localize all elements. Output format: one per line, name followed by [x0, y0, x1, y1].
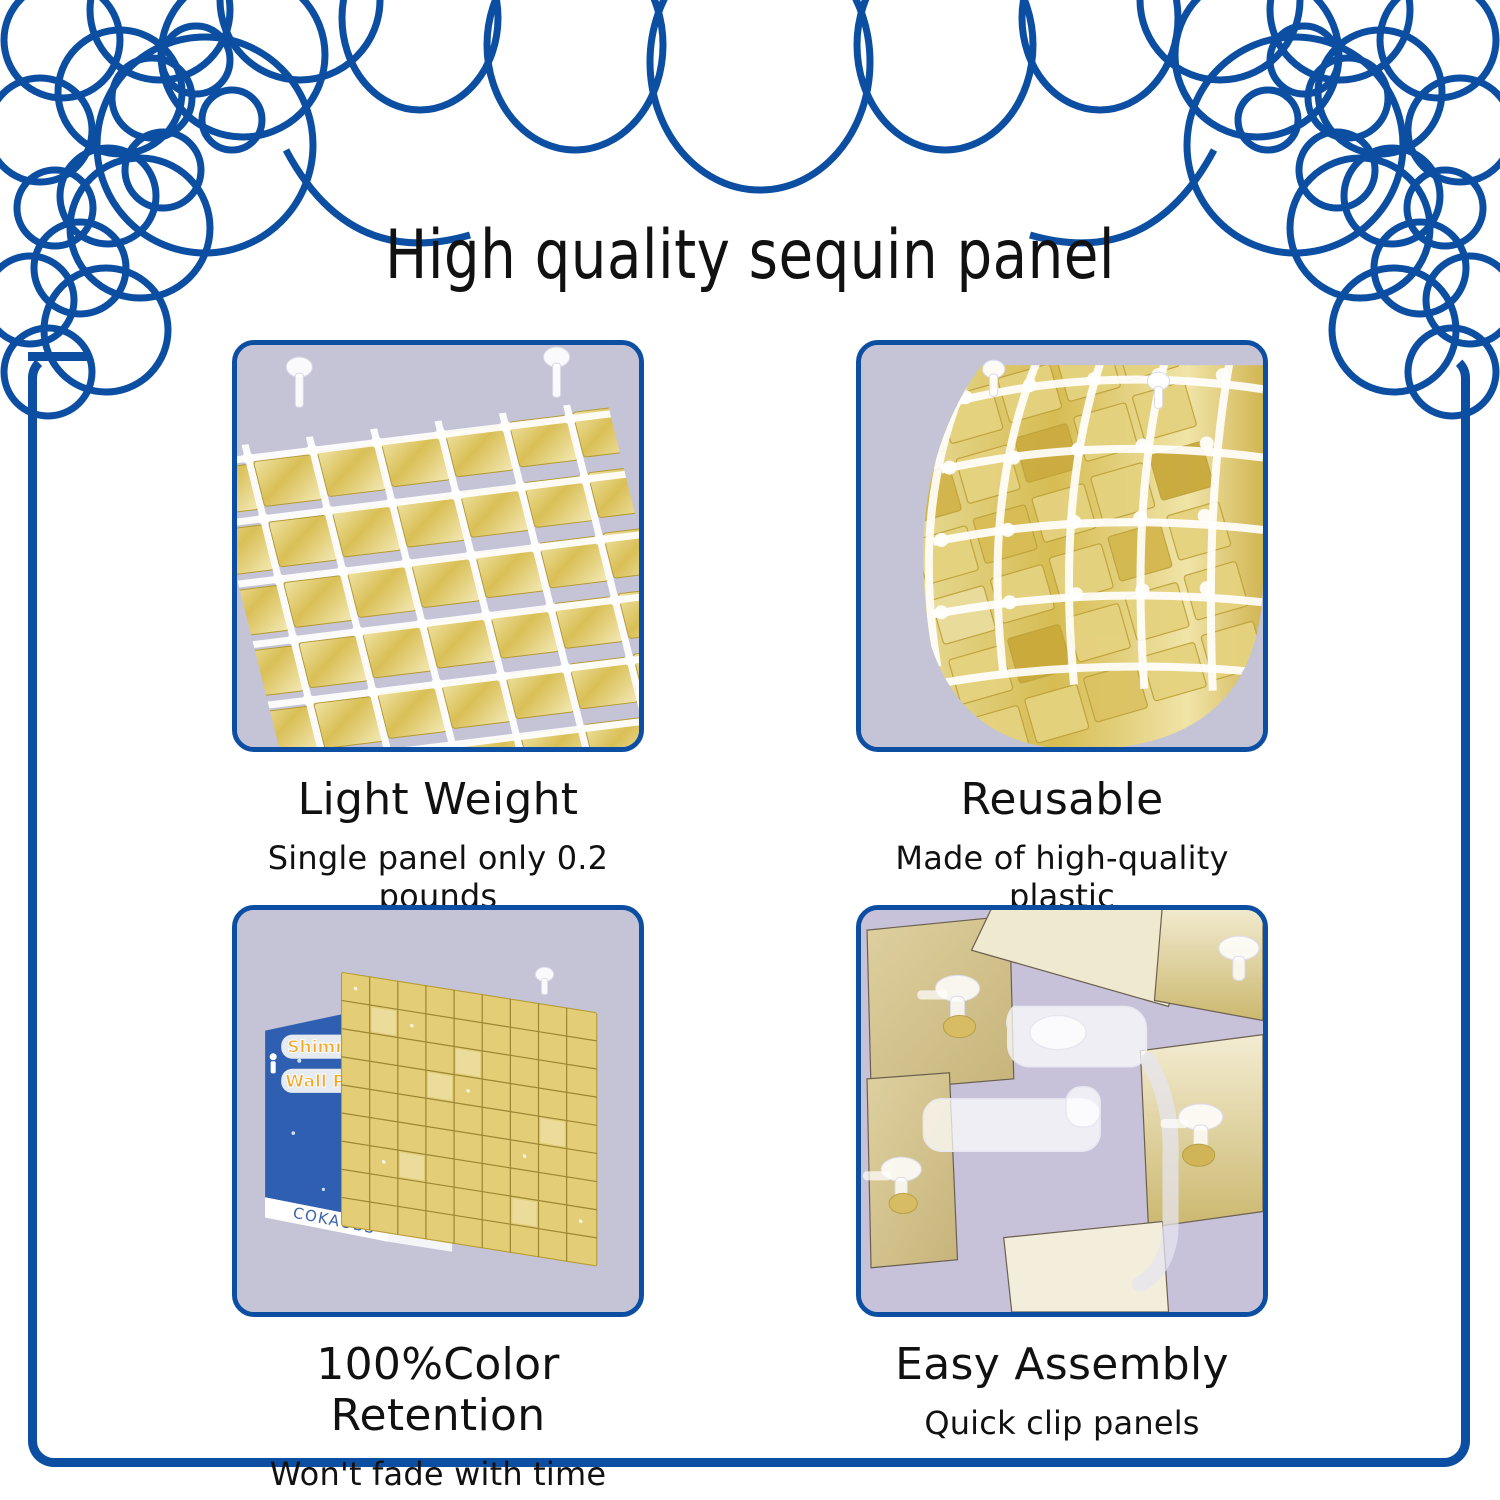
- feature-heading: 100%Color Retention: [232, 1339, 644, 1441]
- feature-subtext: Quick clip panels: [856, 1404, 1268, 1442]
- page-title: High quality sequin panel: [60, 216, 1440, 295]
- feature-card-color-retention: Shimmer Wall Panel COKAOBS: [232, 905, 852, 1493]
- feature-heading: Light Weight: [232, 774, 644, 825]
- feature-image-light-weight: [232, 340, 644, 752]
- feature-image-reusable: [856, 340, 1268, 752]
- sequin-plate-bottom: [1004, 1222, 1169, 1312]
- feature-subtext: Won't fade with time: [232, 1455, 644, 1493]
- sequin-plate-top-right: [1154, 910, 1263, 1021]
- frame-top-left-stub: [28, 352, 88, 361]
- infographic-canvas: High quality sequin panel: [0, 0, 1500, 1500]
- feature-image-color-retention: Shimmer Wall Panel COKAOBS: [232, 905, 644, 1317]
- gold-sequin-panel: [342, 972, 597, 1266]
- sequin-panel-rolled-illustration: [861, 345, 1263, 747]
- clip-closeup-illustration: [861, 910, 1263, 1312]
- feature-heading: Easy Assembly: [856, 1339, 1268, 1390]
- feature-grid: Light Weight Single panel only 0.2 pound…: [88, 340, 1412, 1480]
- feature-subtext: Made of high-quality plastic: [856, 839, 1268, 915]
- feature-card-light-weight: Light Weight Single panel only 0.2 pound…: [232, 340, 852, 915]
- feature-card-easy-assembly: Easy Assembly Quick clip panels: [856, 905, 1476, 1442]
- feature-card-reusable: Reusable Made of high-quality plastic: [856, 340, 1476, 915]
- feature-image-easy-assembly: [856, 905, 1268, 1317]
- feature-subtext: Single panel only 0.2 pounds: [232, 839, 644, 915]
- sequin-panel-angled-illustration: [237, 345, 639, 747]
- feature-heading: Reusable: [856, 774, 1268, 825]
- panel-with-product-box-illustration: Shimmer Wall Panel COKAOBS: [237, 910, 639, 1312]
